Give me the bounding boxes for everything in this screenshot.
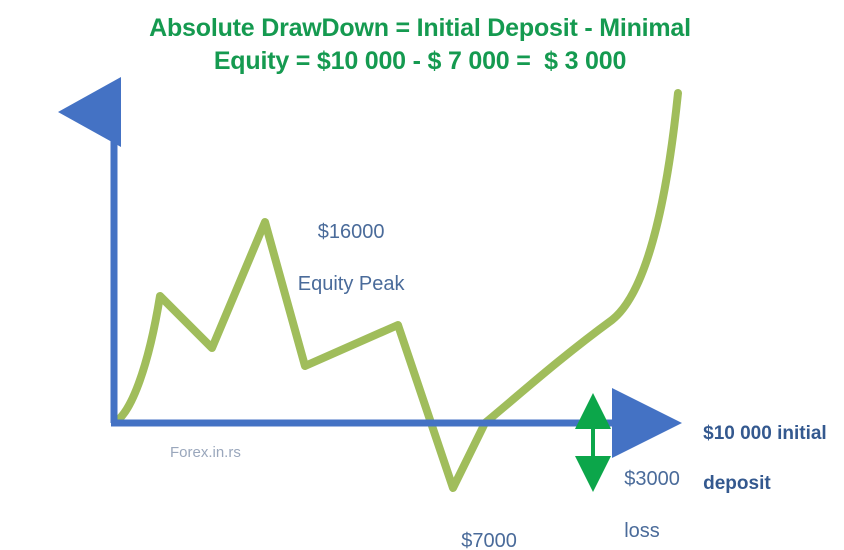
equity-peak-value: $16000 [318,221,385,243]
drawdown-loss-caption: loss [624,520,660,542]
title-line-1: Absolute DrawDown = Initial Deposit - Mi… [60,12,780,45]
page-title: Absolute DrawDown = Initial Deposit - Mi… [60,12,780,78]
title-line-2: Equity = $10 000 - $ 7 000 = $ 3 000 [60,45,780,78]
watermark-text: Forex.in.rs [170,444,241,461]
drawdown-diagram: Absolute DrawDown = Initial Deposit - Mi… [0,0,844,550]
initial-deposit-line-2: deposit [703,473,771,494]
initial-deposit-annotation: $10 000 initial deposit [682,396,842,521]
equity-peak-annotation: $16000 Equity Peak [250,193,430,323]
minimal-equity-annotation: $7000 [398,502,558,550]
minimal-equity-value: $7000 [461,530,517,550]
equity-peak-caption: Equity Peak [298,273,405,295]
initial-deposit-line-1: $10 000 initial [703,423,827,444]
drawdown-loss-value: $3000 [624,468,680,490]
